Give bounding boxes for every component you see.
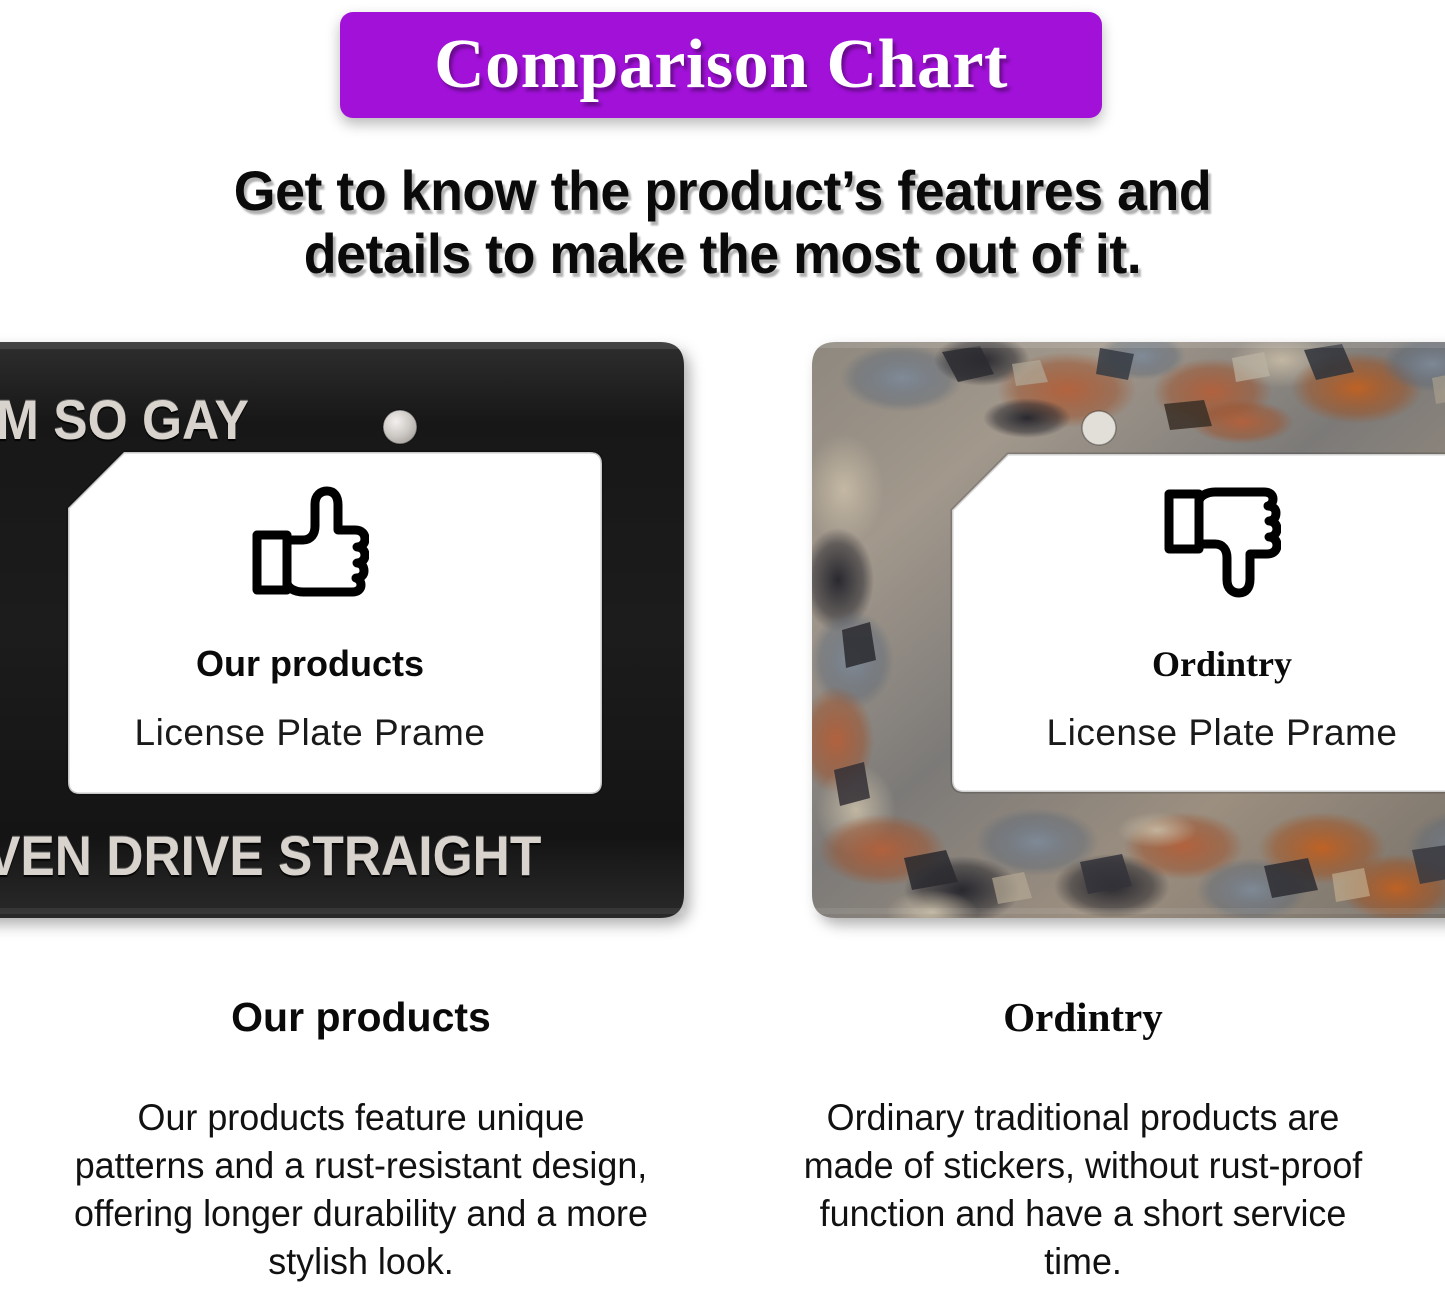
comparison-description-columns: Our products Our products feature unique… xyxy=(0,985,1445,1315)
product-frames-stage: M SO GAY VEN DRIVE STRAIGHT Our products… xyxy=(0,330,1445,930)
left-column-heading: Our products xyxy=(231,997,491,1038)
right-column-description: Ordinary traditional products are made o… xyxy=(781,1094,1384,1286)
right-column-heading: Ordintry xyxy=(1003,997,1162,1038)
right-product-image: Ordintry License Plate Prame xyxy=(812,330,1445,930)
left-product-image: M SO GAY VEN DRIVE STRAIGHT Our products… xyxy=(0,330,684,930)
frame-bottom-lettering: VEN DRIVE STRAIGHT xyxy=(0,828,541,884)
comparison-chart-title-banner: Comparison Chart xyxy=(340,12,1102,118)
subtitle-line-1: Get to know the product’s features and xyxy=(29,160,1416,223)
frame-top-lettering: M SO GAY xyxy=(0,392,249,448)
left-column-description: Our products feature unique patterns and… xyxy=(72,1094,650,1286)
left-comparison-column: Our products Our products feature unique… xyxy=(0,985,722,1315)
page-subtitle: Get to know the product’s features and d… xyxy=(29,160,1416,285)
subtitle-line-2: details to make the most out of it. xyxy=(29,223,1416,286)
page-title: Comparison Chart xyxy=(434,30,1008,100)
right-comparison-column: Ordintry Ordinary traditional products a… xyxy=(722,985,1444,1315)
rusty-license-plate-frame xyxy=(812,330,1445,930)
